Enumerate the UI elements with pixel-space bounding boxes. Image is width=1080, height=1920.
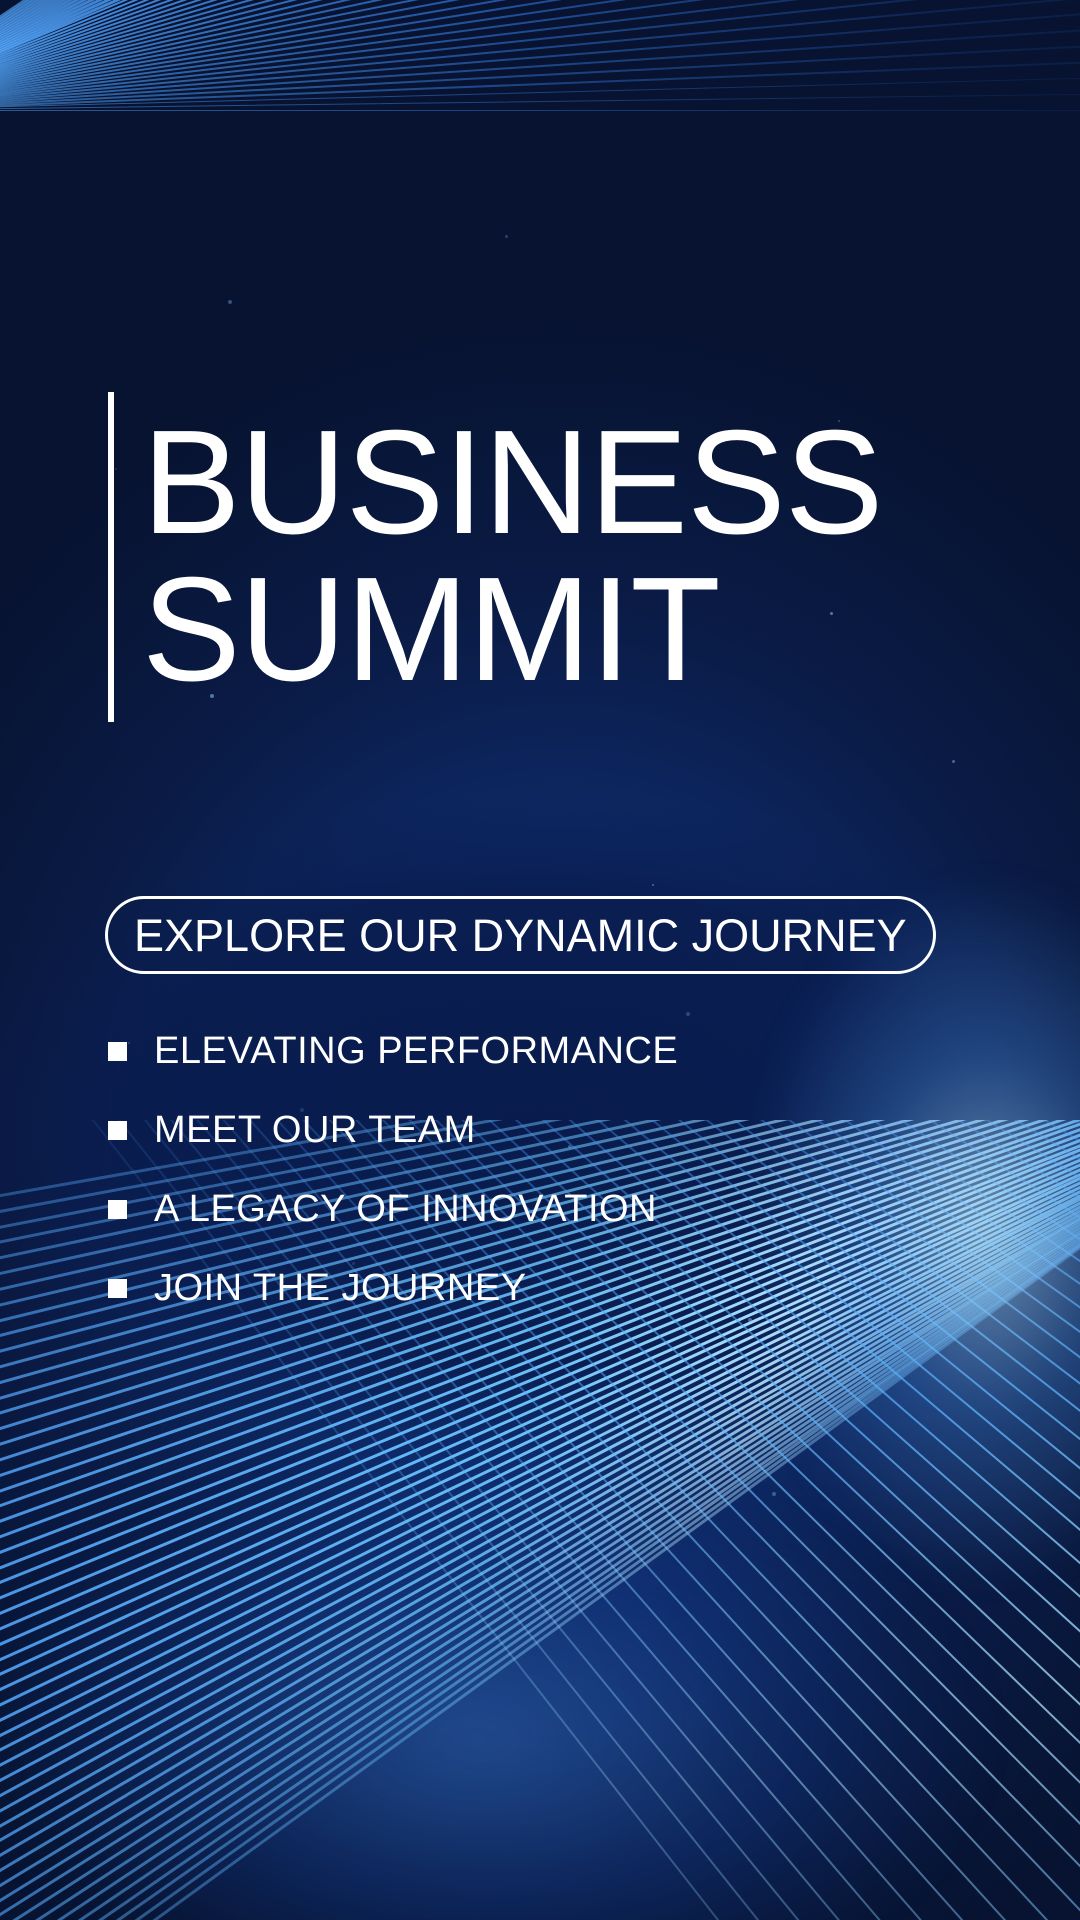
list-item[interactable]: ELEVATING PERFORMANCE [108,1022,868,1080]
list-item[interactable]: MEET OUR TEAM [108,1101,868,1159]
square-bullet-icon [108,1121,127,1140]
list-item-label: JOIN THE JOURNEY [154,1269,527,1307]
title-accent-bar [108,392,114,722]
list-item-label: MEET OUR TEAM [154,1111,476,1149]
title-line-1: BUSINESS [142,410,882,557]
title-line-2: SUMMIT [142,557,882,704]
page-title: BUSINESS SUMMIT [108,392,882,722]
list-item-label: ELEVATING PERFORMANCE [154,1032,678,1070]
list-item[interactable]: A LEGACY OF INNOVATION [108,1180,868,1238]
list-item[interactable]: JOIN THE JOURNEY [108,1259,868,1317]
title-lines: BUSINESS SUMMIT [142,392,882,722]
list-item-label: A LEGACY OF INNOVATION [154,1190,657,1228]
poster-canvas: BUSINESS SUMMIT EXPLORE OUR DYNAMIC JOUR… [0,0,1080,1920]
square-bullet-icon [108,1042,127,1061]
explore-journey-button-label: EXPLORE OUR DYNAMIC JOURNEY [134,913,907,958]
poster-content: BUSINESS SUMMIT EXPLORE OUR DYNAMIC JOUR… [0,0,1080,1920]
explore-journey-button[interactable]: EXPLORE OUR DYNAMIC JOURNEY [105,896,936,974]
square-bullet-icon [108,1200,127,1219]
agenda-list: ELEVATING PERFORMANCE MEET OUR TEAM A LE… [108,1022,868,1338]
square-bullet-icon [108,1279,127,1298]
